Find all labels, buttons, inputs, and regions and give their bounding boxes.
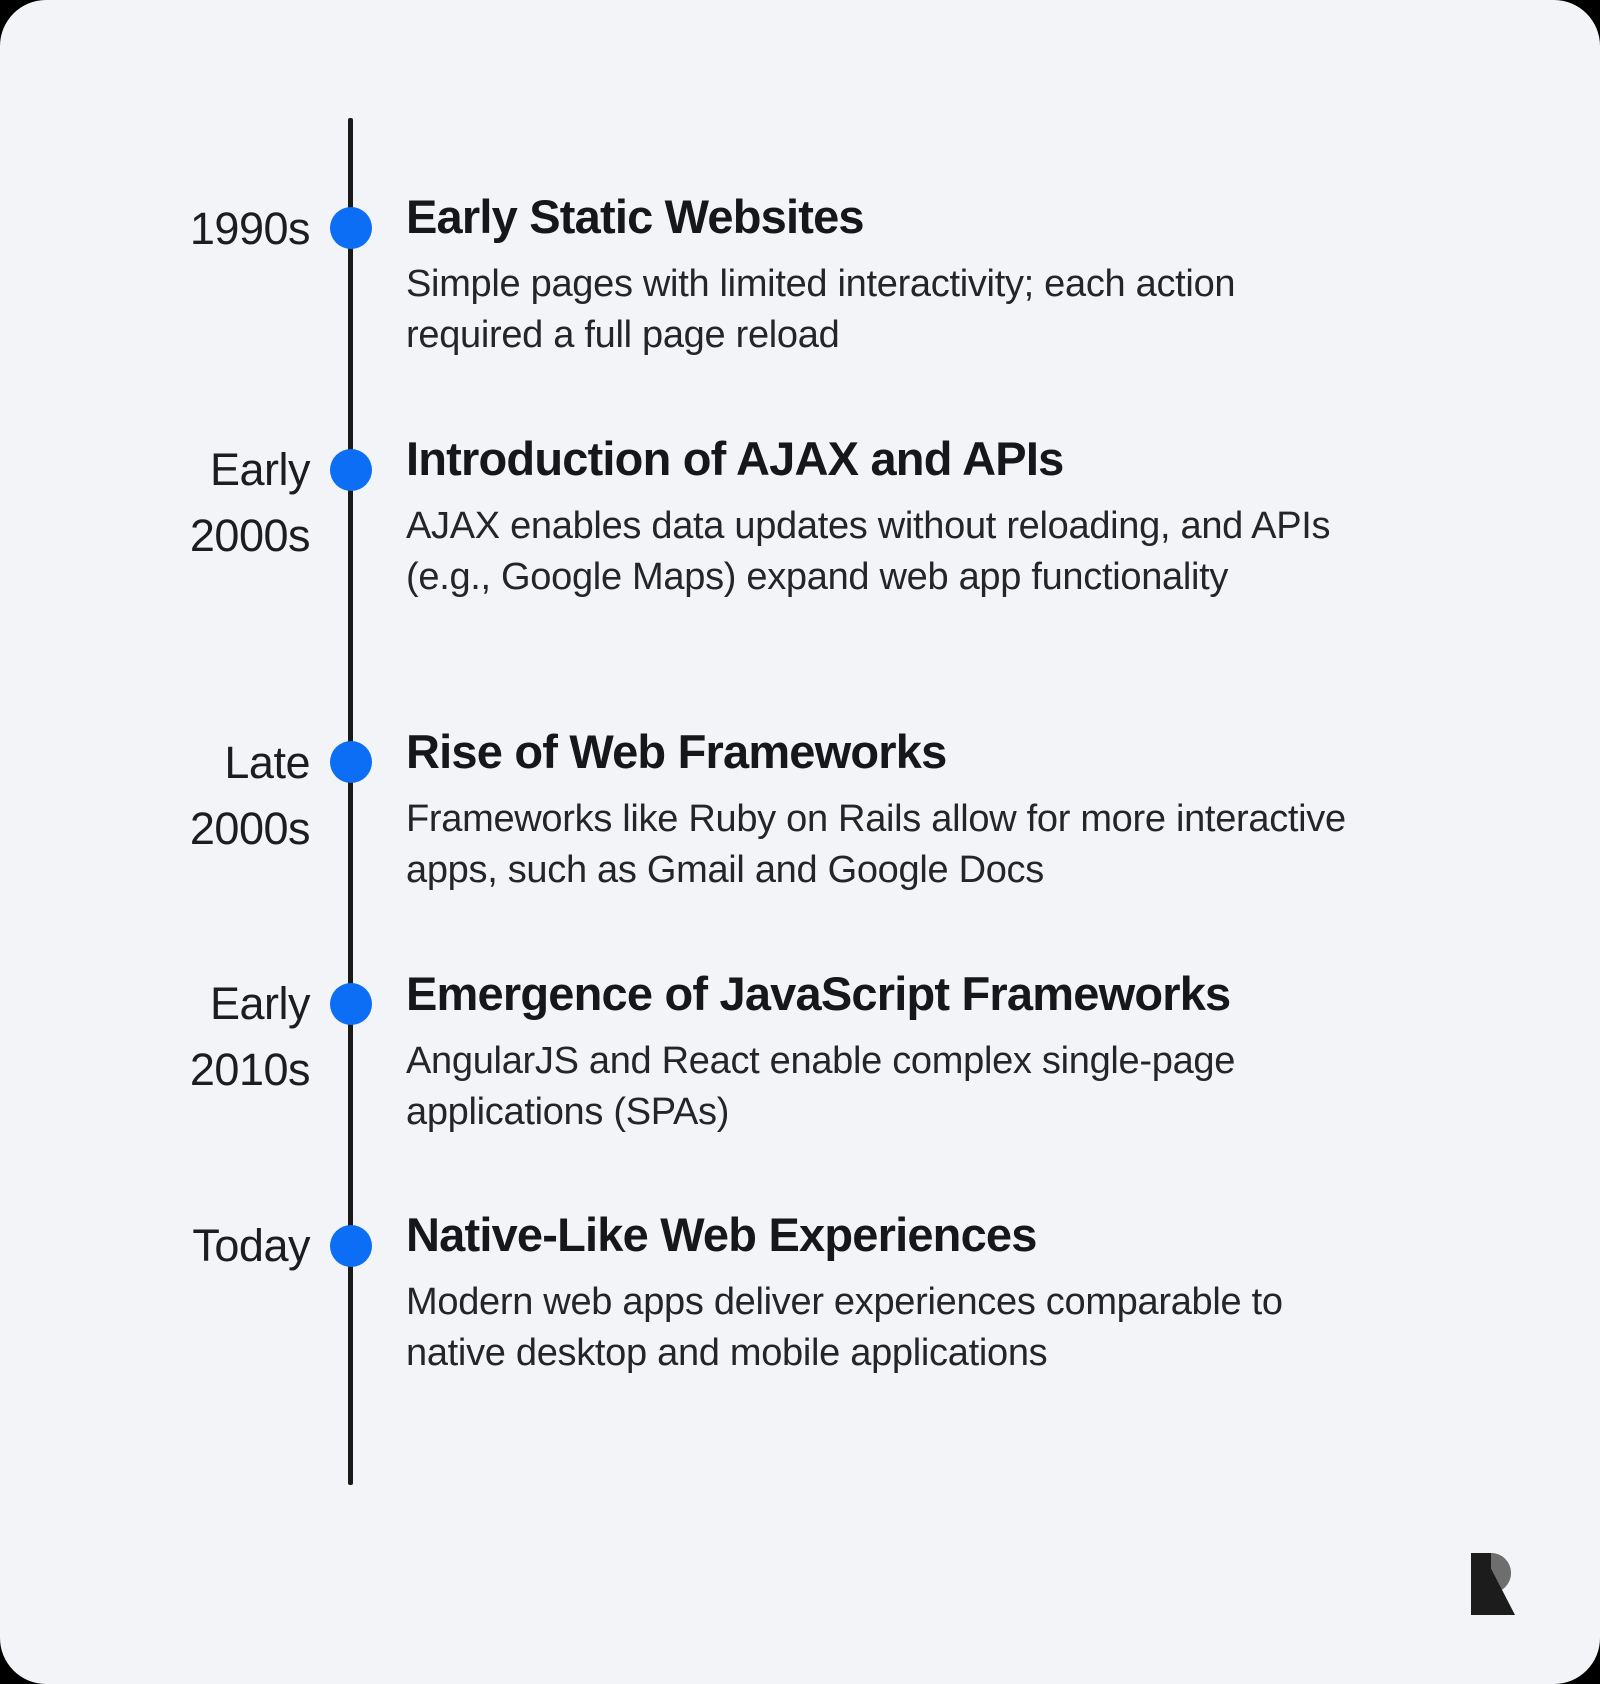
timeline-content: Rise of Web Frameworks Frameworks like R…	[406, 723, 1356, 896]
timeline-item-title: Rise of Web Frameworks	[406, 723, 1356, 781]
timeline-content: Emergence of JavaScript Frameworks Angul…	[406, 965, 1356, 1138]
timeline-era-label: Early 2010s	[60, 971, 310, 1103]
timeline-item-title: Introduction of AJAX and APIs	[406, 430, 1356, 488]
timeline-content: Native-Like Web Experiences Modern web a…	[406, 1206, 1356, 1379]
r-mark-logo	[1471, 1553, 1519, 1615]
timeline-item-description: AngularJS and React enable complex singl…	[406, 1036, 1356, 1138]
timeline-era-label: Today	[60, 1213, 310, 1279]
era-line: 1990s	[60, 196, 310, 262]
era-line: 2010s	[60, 1037, 310, 1103]
timeline-dot[interactable]	[330, 1225, 372, 1267]
timeline-item-description: Modern web apps deliver experiences comp…	[406, 1277, 1356, 1379]
timeline-era-label: Late 2000s	[60, 730, 310, 862]
era-line: Late	[60, 730, 310, 796]
era-line: 2000s	[60, 796, 310, 862]
timeline-era-label: Early 2000s	[60, 437, 310, 569]
era-line: 2000s	[60, 503, 310, 569]
timeline-item-title: Native-Like Web Experiences	[406, 1206, 1356, 1264]
timeline-era-label: 1990s	[60, 196, 310, 262]
timeline-content: Introduction of AJAX and APIs AJAX enabl…	[406, 430, 1356, 603]
era-line: Early	[60, 971, 310, 1037]
timeline-dot[interactable]	[330, 207, 372, 249]
timeline-content: Early Static Websites Simple pages with …	[406, 188, 1356, 361]
timeline-item-title: Early Static Websites	[406, 188, 1356, 246]
era-line: Today	[60, 1213, 310, 1279]
timeline-dot[interactable]	[330, 983, 372, 1025]
timeline-dot[interactable]	[330, 741, 372, 783]
timeline-item-description: Frameworks like Ruby on Rails allow for …	[406, 794, 1356, 896]
timeline-item-title: Emergence of JavaScript Frameworks	[406, 965, 1356, 1023]
era-line: Early	[60, 437, 310, 503]
timeline-dot[interactable]	[330, 449, 372, 491]
infographic-card: 1990s Early Static Websites Simple pages…	[0, 0, 1600, 1684]
timeline: 1990s Early Static Websites Simple pages…	[0, 0, 1600, 1684]
timeline-item-description: Simple pages with limited interactivity;…	[406, 259, 1356, 361]
timeline-item-description: AJAX enables data updates without reload…	[406, 501, 1356, 603]
timeline-spine	[348, 118, 353, 1485]
